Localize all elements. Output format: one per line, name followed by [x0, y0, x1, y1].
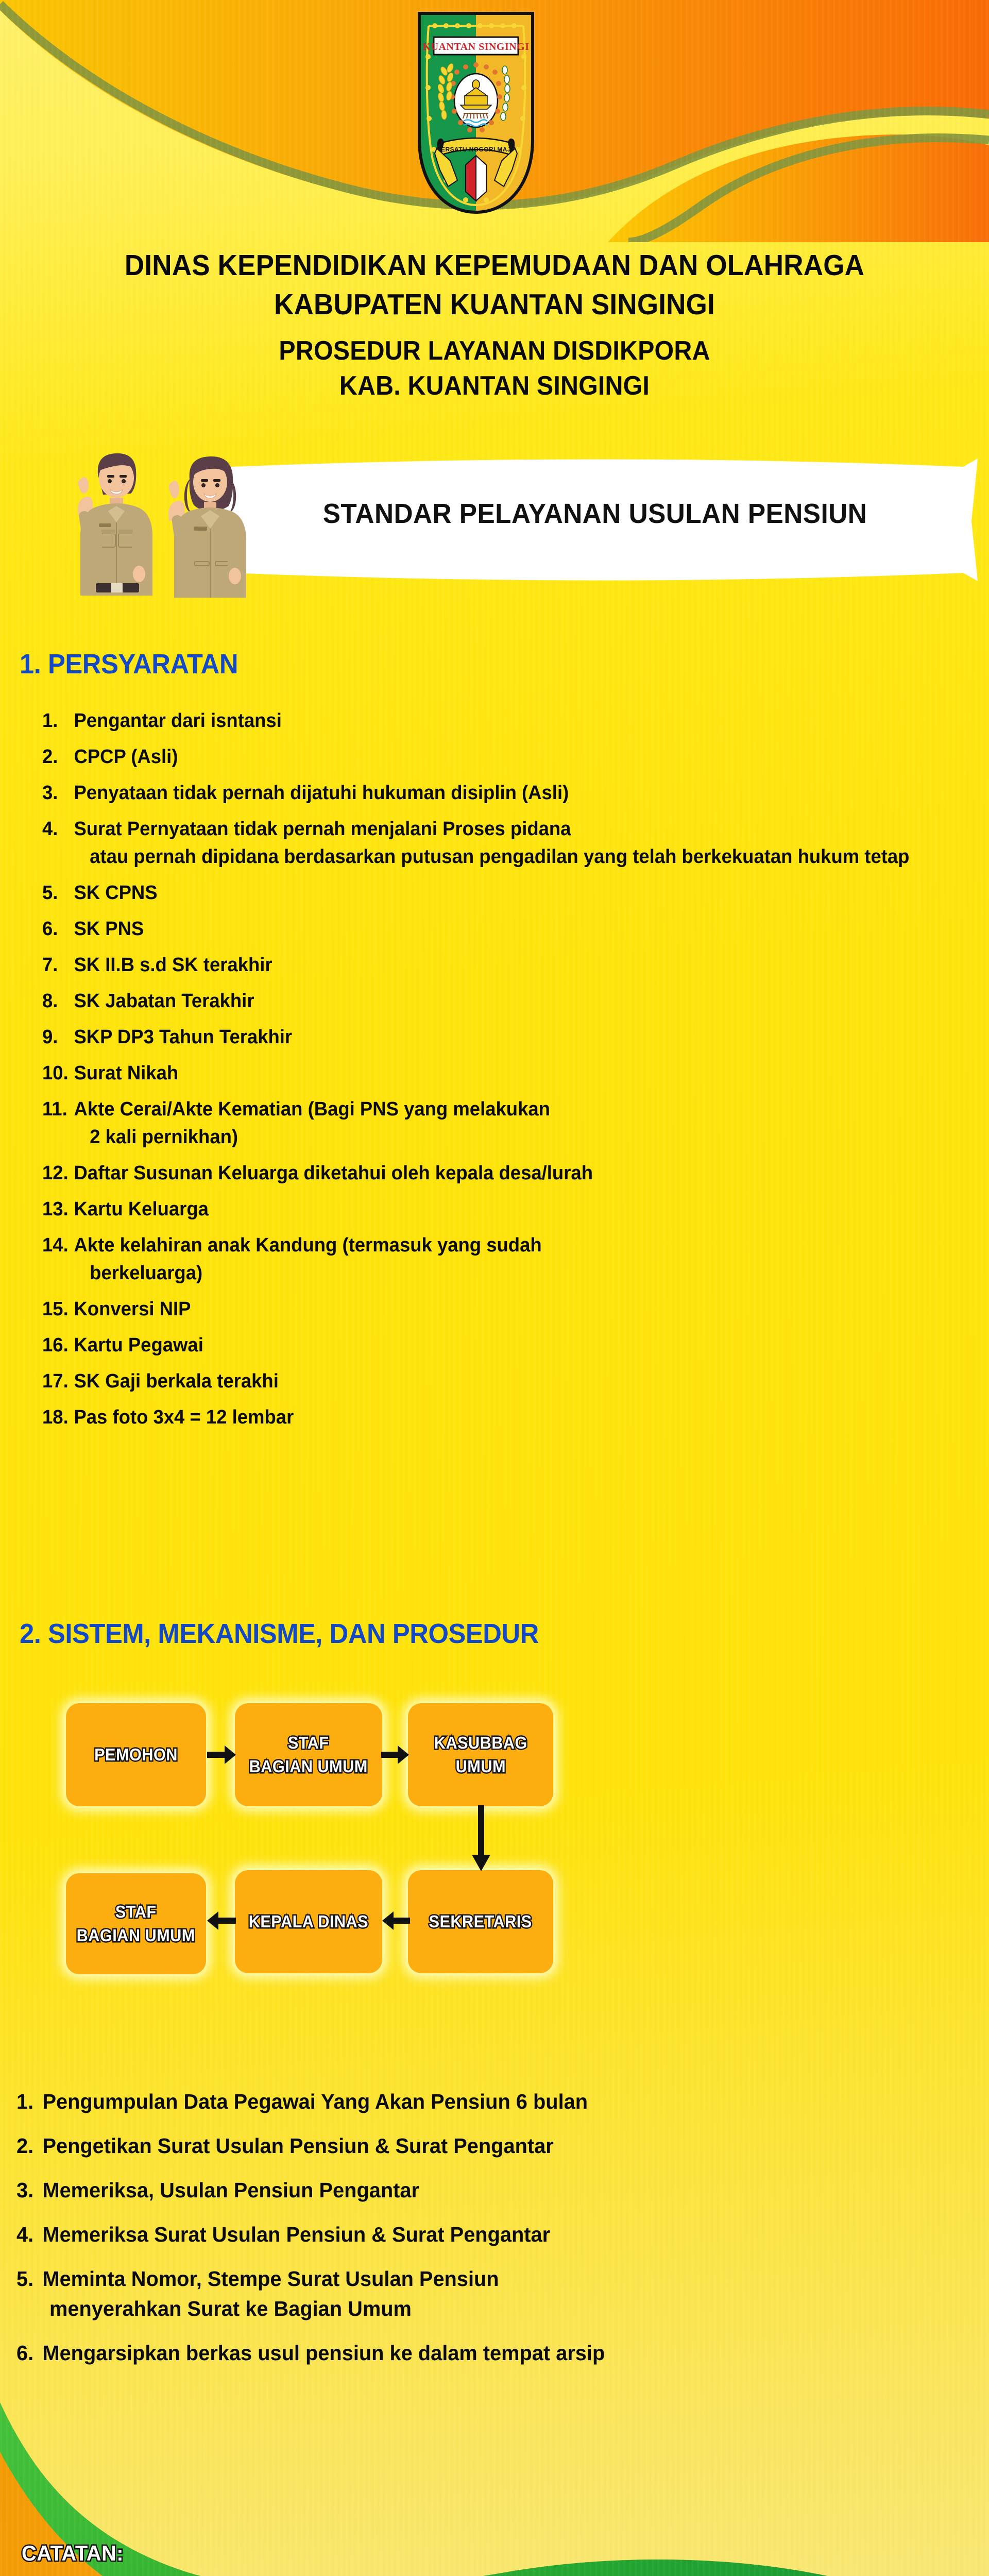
item-text: Akte kelahiran anak Kandung (termasuk ya… — [74, 1234, 541, 1256]
item-number: 7. — [42, 951, 74, 979]
banner-title: STANDAR PELAYANAN USULAN PENSIUN — [240, 498, 950, 530]
list-item: 10.Surat Nikah — [42, 1059, 937, 1087]
flow-node-label: STAF BAGIAN UMUM — [249, 1731, 368, 1778]
step-number: 6. — [16, 2338, 42, 2368]
list-item: 7.SK II.B s.d SK terakhir — [42, 951, 937, 979]
item-number: 12. — [42, 1159, 74, 1187]
dinas-line: DINAS KEPENDIDIKAN KEPEMUDAAN DAN OLAHRA… — [35, 247, 954, 283]
step-text: Pengetikan Surat Usulan Pensiun & Surat … — [42, 2134, 553, 2158]
header-titles: DINAS KEPENDIDIKAN KEPEMUDAAN DAN OLAHRA… — [0, 247, 989, 403]
item-text: Pengantar dari isntansi — [74, 710, 281, 732]
step-number: 2. — [16, 2131, 42, 2161]
list-item: 3.Penyataan tidak pernah dijatuhi hukuma… — [42, 779, 937, 807]
catatan-section: CATATAN: 1. Waktu yang dibutuhkan untuk … — [22, 2541, 980, 2576]
kab-line: KAB. KUANTAN SINGINGI — [35, 369, 954, 403]
title-banner-zone: STANDAR PELAYANAN USULAN PENSIUN — [0, 453, 989, 587]
list-item: 11.Akte Cerai/Akte Kematian (Bagi PNS ya… — [42, 1095, 937, 1151]
item-text: SK CPNS — [74, 882, 157, 904]
poster-root: KUANTAN SINGINGI — [0, 0, 989, 2576]
item-text: Daftar Susunan Keluarga diketahui oleh k… — [74, 1162, 593, 1184]
item-number: 13. — [42, 1195, 74, 1223]
arrow-left-2 — [205, 1908, 237, 1933]
item-number: 9. — [42, 1023, 74, 1051]
item-text: CPCP (Asli) — [74, 746, 178, 768]
prosedur-line: PROSEDUR LAYANAN DISDIKPORA — [35, 334, 954, 368]
list-item: 2.Pengetikan Surat Usulan Pensiun & Sura… — [16, 2131, 951, 2161]
list-item: 9.SKP DP3 Tahun Terakhir — [42, 1023, 937, 1051]
list-item: 6.SK PNS — [42, 915, 937, 943]
section-heading-persyaratan: 1. PERSYARATAN — [20, 648, 238, 680]
item-text: Konversi NIP — [74, 1298, 191, 1320]
item-number: 5. — [42, 879, 74, 907]
item-continuation: atau pernah dipidana berdasarkan putusan… — [74, 843, 937, 871]
item-continuation: 2 kali pernikhan) — [74, 1123, 937, 1151]
flow-node-kasubbag: KASUBBAG UMUM — [408, 1703, 553, 1806]
item-number: 1. — [42, 707, 74, 735]
item-number: 2. — [42, 743, 74, 771]
process-flowchart: PEMOHON STAF BAGIAN UMUM KASUBBAG UMUM S… — [0, 1695, 989, 2045]
step-text: Mengarsipkan berkas usul pensiun ke dala… — [42, 2341, 605, 2365]
list-item: 1.Pengumpulan Data Pegawai Yang Akan Pen… — [16, 2087, 951, 2116]
flow-node-staf1: STAF BAGIAN UMUM — [235, 1703, 382, 1806]
list-item: 12.Daftar Susunan Keluarga diketahui ole… — [42, 1159, 937, 1187]
arrow-right-2 — [380, 1742, 411, 1767]
item-text: Surat Nikah — [74, 1062, 178, 1084]
item-number: 6. — [42, 915, 74, 943]
svg-text:KUANTAN SINGINGI: KUANTAN SINGINGI — [422, 41, 529, 53]
item-text: SK PNS — [74, 918, 144, 940]
step-continuation: menyerahkan Surat ke Bagian Umum — [42, 2294, 950, 2324]
list-item: 8.SK Jabatan Terakhir — [42, 987, 937, 1015]
item-number: 14. — [42, 1231, 74, 1259]
step-number: 4. — [16, 2219, 42, 2249]
flow-node-sekretaris: SEKRETARIS — [408, 1870, 553, 1973]
step-number: 5. — [16, 2264, 42, 2294]
item-text: Penyataan tidak pernah dijatuhi hukuman … — [74, 782, 569, 804]
item-text: SKP DP3 Tahun Terakhir — [74, 1026, 292, 1048]
step-number: 1. — [16, 2087, 42, 2116]
step-text: Pengumpulan Data Pegawai Yang Akan Pensi… — [42, 2090, 588, 2113]
list-item: 14.Akte kelahiran anak Kandung (termasuk… — [42, 1231, 937, 1287]
list-item: 13.Kartu Keluarga — [42, 1195, 937, 1223]
arrow-right-1 — [205, 1742, 238, 1767]
item-number: 16. — [42, 1331, 74, 1359]
list-item: 5.SK CPNS — [42, 879, 937, 907]
flow-node-label: SEKRETARIS — [429, 1910, 532, 1934]
list-item: 3.Memeriksa, Usulan Pensiun Pengantar — [16, 2175, 951, 2205]
item-text: Akte Cerai/Akte Kematian (Bagi PNS yang … — [74, 1098, 550, 1120]
section-heading-sistem: 2. SISTEM, MEKANISME, DAN PROSEDUR — [20, 1618, 539, 1650]
flow-node-pemohon: PEMOHON — [66, 1703, 206, 1806]
list-item: 6.Mengarsipkan berkas usul pensiun ke da… — [16, 2338, 951, 2368]
item-text: Pas foto 3x4 = 12 lembar — [74, 1406, 294, 1428]
step-number: 3. — [16, 2175, 42, 2205]
procedure-steps-list: 1.Pengumpulan Data Pegawai Yang Akan Pen… — [16, 2087, 980, 2382]
item-number: 15. — [42, 1295, 74, 1323]
svg-text:BERSATU NOGORI MAJU: BERSATU NOGORI MAJU — [436, 146, 516, 153]
kabupaten-line: KABUPATEN KUANTAN SINGINGI — [35, 286, 954, 323]
step-text: Meminta Nomor, Stempe Surat Usulan Pensi… — [42, 2267, 499, 2291]
list-item: 4.Surat Pernyataan tidak pernah menjalan… — [42, 815, 937, 871]
item-number: 17. — [42, 1367, 74, 1395]
male-figure — [78, 453, 152, 596]
flow-node-staf2: STAF BAGIAN UMUM — [66, 1873, 206, 1974]
requirements-list: 1.Pengantar dari isntansi 2.CPCP (Asli) … — [42, 707, 975, 1439]
flow-node-label: KASUBBAG UMUM — [434, 1731, 527, 1778]
flow-node-label: STAF BAGIAN UMUM — [77, 1900, 195, 1947]
item-number: 11. — [42, 1095, 74, 1123]
item-number: 18. — [42, 1403, 74, 1431]
list-item: 18.Pas foto 3x4 = 12 lembar — [42, 1403, 937, 1431]
list-item: 17.SK Gaji berkala terakhi — [42, 1367, 937, 1395]
list-item: 5.Meminta Nomor, Stempe Surat Usulan Pen… — [16, 2264, 951, 2324]
item-number: 8. — [42, 987, 74, 1015]
civil-servant-illustration — [67, 438, 283, 598]
item-text: SK II.B s.d SK terakhir — [74, 954, 272, 976]
step-text: Memeriksa Surat Usulan Pensiun & Surat P… — [42, 2223, 550, 2246]
list-item: 1.Pengantar dari isntansi — [42, 707, 937, 735]
catatan-heading: CATATAN: — [22, 2541, 932, 2566]
item-number: 3. — [42, 779, 74, 807]
arrow-down — [469, 1804, 493, 1873]
flow-node-label: PEMOHON — [94, 1743, 178, 1767]
flow-node-kepala-dinas: KEPALA DINAS — [235, 1870, 382, 1973]
step-text: Memeriksa, Usulan Pensiun Pengantar — [42, 2178, 419, 2202]
female-figure — [168, 456, 246, 598]
item-continuation: berkeluarga) — [74, 1259, 937, 1287]
item-number: 10. — [42, 1059, 74, 1087]
item-text: SK Jabatan Terakhir — [74, 990, 254, 1012]
list-item: 4.Memeriksa Surat Usulan Pensiun & Surat… — [16, 2219, 951, 2249]
coat-of-arms-logo: KUANTAN SINGINGI — [414, 10, 538, 216]
list-item: 16.Kartu Pegawai — [42, 1331, 937, 1359]
item-text: Kartu Keluarga — [74, 1198, 209, 1220]
item-number: 4. — [42, 815, 74, 843]
item-text: Surat Pernyataan tidak pernah menjalani … — [74, 818, 571, 840]
item-text: SK Gaji berkala terakhi — [74, 1370, 278, 1392]
list-item: 15.Konversi NIP — [42, 1295, 937, 1323]
item-text: Kartu Pegawai — [74, 1334, 203, 1356]
arrow-left-1 — [381, 1908, 411, 1933]
list-item: 2.CPCP (Asli) — [42, 743, 937, 771]
flow-node-label: KEPALA DINAS — [249, 1910, 368, 1934]
